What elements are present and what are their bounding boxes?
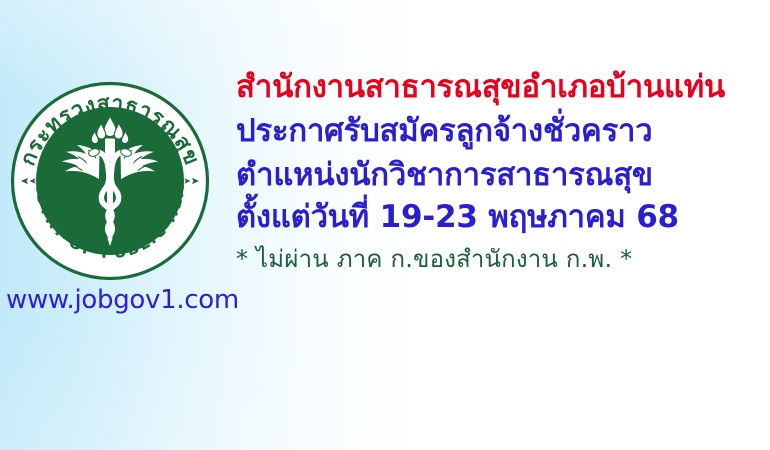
announcement-line-note: * ไม่ผ่าน ภาค ก.ของสำนักงาน ก.พ. * [236,247,766,271]
announcement-line-position: ตำแหน่งนักวิชาการสาธารณสุข [236,160,766,191]
announcement-line-office: สำนักงานสาธารณสุขอำเภอบ้านแท่น [236,72,766,103]
announcement-text-block: สำนักงานสาธารณสุขอำเภอบ้านแท่น ประกาศรับ… [236,72,766,271]
announcement-line-recruitment: ประกาศรับสมัครลูกจ้างชั่วคราว [236,116,766,147]
website-url[interactable]: www.jobgov1.com [6,285,228,315]
announcement-poster: กระทรวงสาธารณสุข MINISTRY OF PUBLIC HEAL… [0,0,770,450]
ministry-of-public-health-logo: กระทรวงสาธารณสุข MINISTRY OF PUBLIC HEAL… [8,78,212,284]
announcement-line-dates: ตั้งแต่วันที่ 19-23 พฤษภาคม 68 [236,202,766,233]
